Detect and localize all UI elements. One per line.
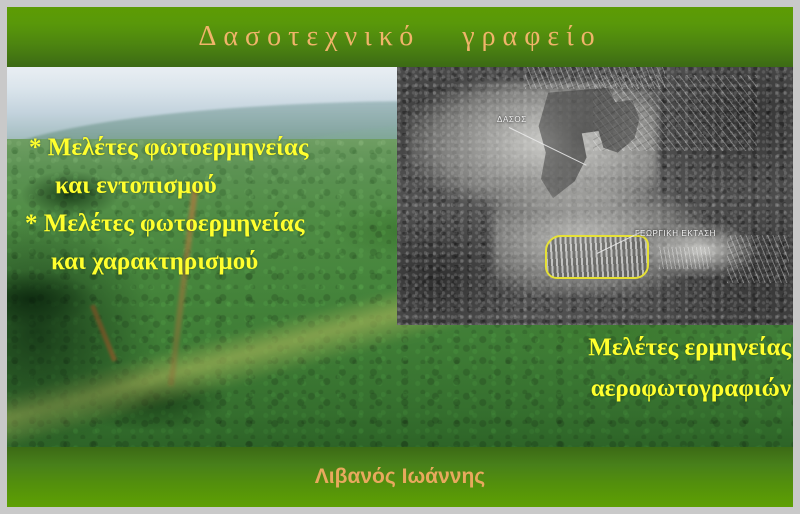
aerial-orchard-rows-center: [659, 247, 711, 269]
page-title: Δασοτεχνικό γραφείο: [7, 7, 793, 67]
caption-right: Μελέτες ερμηνείας αεροφωτογραφιών: [471, 327, 791, 410]
slide-frame: ΔΑΣΟΣ ΓΕΩΡΓΙΚΗ ΕΚΤΑΣΗ * Μελέτες φωτοερμη…: [0, 0, 800, 514]
caption-line-1: Μελέτες ερμηνείας: [471, 327, 791, 368]
caption-line-2: αεροφωτογραφιών: [471, 368, 791, 409]
author-name: Λιβανός Ιωάννης: [7, 447, 793, 507]
aerial-photo: ΔΑΣΟΣ ΓΕΩΡΓΙΚΗ ΕΚΤΑΣΗ: [397, 67, 793, 325]
bullet-list-left: * Μελέτες φωτοερμηνείας και εντοπισμού *…: [13, 129, 393, 281]
aerial-orchard-rows-right: [727, 235, 789, 283]
bullet-line-1: * Μελέτες φωτοερμηνείας: [13, 129, 393, 167]
bullet-line-2: και εντοπισμού: [13, 167, 393, 205]
bullet-line-3: * Μελέτες φωτοερμηνείας: [13, 205, 393, 243]
aerial-label-forest: ΔΑΣΟΣ: [497, 115, 527, 124]
bullet-line-4: και χαρακτηρισμού: [13, 243, 393, 281]
agricultural-polygon-outline: [545, 235, 649, 279]
aerial-label-agricultural: ΓΕΩΡΓΙΚΗ ΕΚΤΑΣΗ: [635, 229, 716, 238]
slide-content: ΔΑΣΟΣ ΓΕΩΡΓΙΚΗ ΕΚΤΑΣΗ * Μελέτες φωτοερμη…: [7, 7, 793, 507]
